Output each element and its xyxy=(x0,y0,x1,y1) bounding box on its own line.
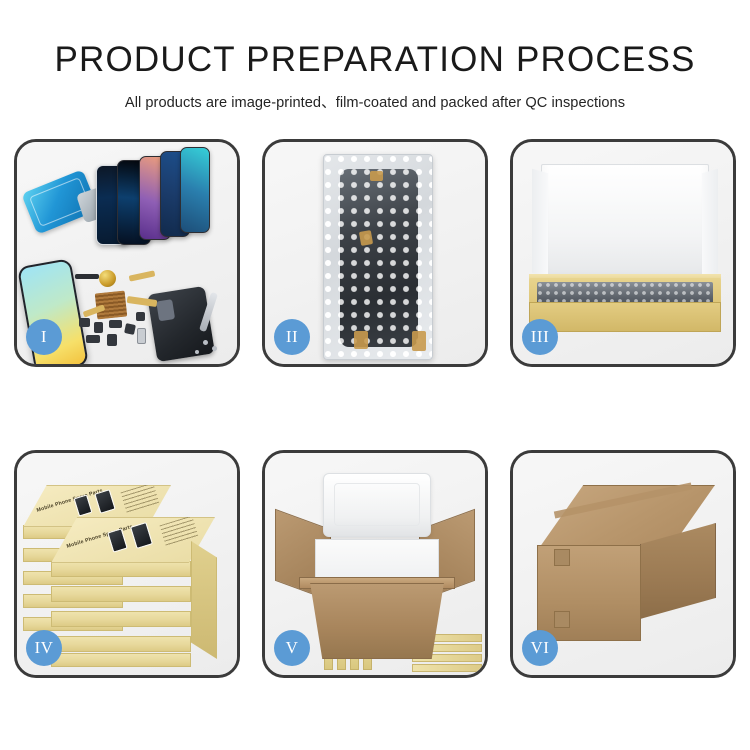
component-chip-icon-3 xyxy=(109,320,122,328)
box-label-text-rear: Mobile Phone Spare Parts xyxy=(36,488,104,514)
stacked-box-front-5 xyxy=(51,561,191,577)
battery-connector-icon xyxy=(75,274,99,279)
process-step-panel-3[interactable]: III xyxy=(510,139,736,367)
box-label-spec-lines-rear xyxy=(121,483,160,514)
stacked-box-front-2 xyxy=(51,636,191,652)
page-subtitle: All products are image-printed、film-coat… xyxy=(0,91,750,112)
process-step-panel-1[interactable]: I xyxy=(14,139,240,367)
phone-screen-icon-5 xyxy=(180,147,210,233)
box-label-spec-lines-front xyxy=(160,516,199,547)
process-step-panel-2[interactable]: II xyxy=(262,139,488,367)
flex-cable-icon-1 xyxy=(129,270,156,281)
box-label-screen-icon-2 xyxy=(94,489,115,514)
stacked-box-front-4 xyxy=(51,586,191,602)
component-chip-icon-6 xyxy=(107,334,117,346)
tape-piece-icon-4 xyxy=(412,331,426,351)
step-badge-3: III xyxy=(522,319,558,355)
bubble-overlay-icon xyxy=(324,155,432,359)
cardboard-carton-icon xyxy=(301,583,453,659)
bubble-wrap-bag-icon xyxy=(323,154,433,360)
step-badge-5: V xyxy=(274,630,310,666)
process-step-grid: I II III xyxy=(14,139,736,684)
speaker-module-icon xyxy=(99,270,116,287)
step-badge-1: I xyxy=(26,319,62,355)
foam-lid-icon xyxy=(323,473,431,537)
tape-piece-icon-1 xyxy=(370,171,383,181)
component-chip-icon-2 xyxy=(94,322,103,333)
process-step-panel-4[interactable]: Mobile Phone Spare Parts Mobile Phone Sp… xyxy=(14,450,240,678)
carton-tape-icon-1 xyxy=(554,549,570,566)
component-chip-icon-5 xyxy=(86,335,100,343)
page-title: PRODUCT PREPARATION PROCESS xyxy=(0,42,750,79)
screw-icon-1 xyxy=(203,340,208,345)
screw-icon-3 xyxy=(195,350,199,354)
white-box-lid-icon xyxy=(541,164,709,284)
stacked-box-front-top: Mobile Phone Spare Parts xyxy=(51,517,215,563)
stacked-box-front-1 xyxy=(51,653,191,667)
inner-box-flat-4 xyxy=(412,664,482,672)
stacked-box-front-3 xyxy=(51,611,191,627)
carton-tape-icon-2 xyxy=(554,611,570,628)
screw-icon-2 xyxy=(212,346,217,351)
tape-piece-icon-2 xyxy=(359,230,373,246)
process-step-panel-6[interactable]: VI xyxy=(510,450,736,678)
component-chip-icon-4 xyxy=(124,323,136,335)
page-header: PRODUCT PREPARATION PROCESS All products… xyxy=(0,0,750,112)
step-badge-2: II xyxy=(274,319,310,355)
step-badge-4: IV xyxy=(26,630,62,666)
component-chip-icon-1 xyxy=(79,318,90,327)
box-front-face-icon xyxy=(529,302,721,332)
stacked-box-side-face xyxy=(191,541,217,659)
step-badge-6: VI xyxy=(522,630,558,666)
tape-piece-icon-3 xyxy=(354,331,368,349)
box-label-screen-icon-4 xyxy=(130,522,153,549)
process-step-panel-5[interactable]: V xyxy=(262,450,488,678)
carton-front-face-icon xyxy=(537,545,641,641)
component-chip-icon-7 xyxy=(136,312,145,321)
sim-tray-icon xyxy=(137,328,146,344)
